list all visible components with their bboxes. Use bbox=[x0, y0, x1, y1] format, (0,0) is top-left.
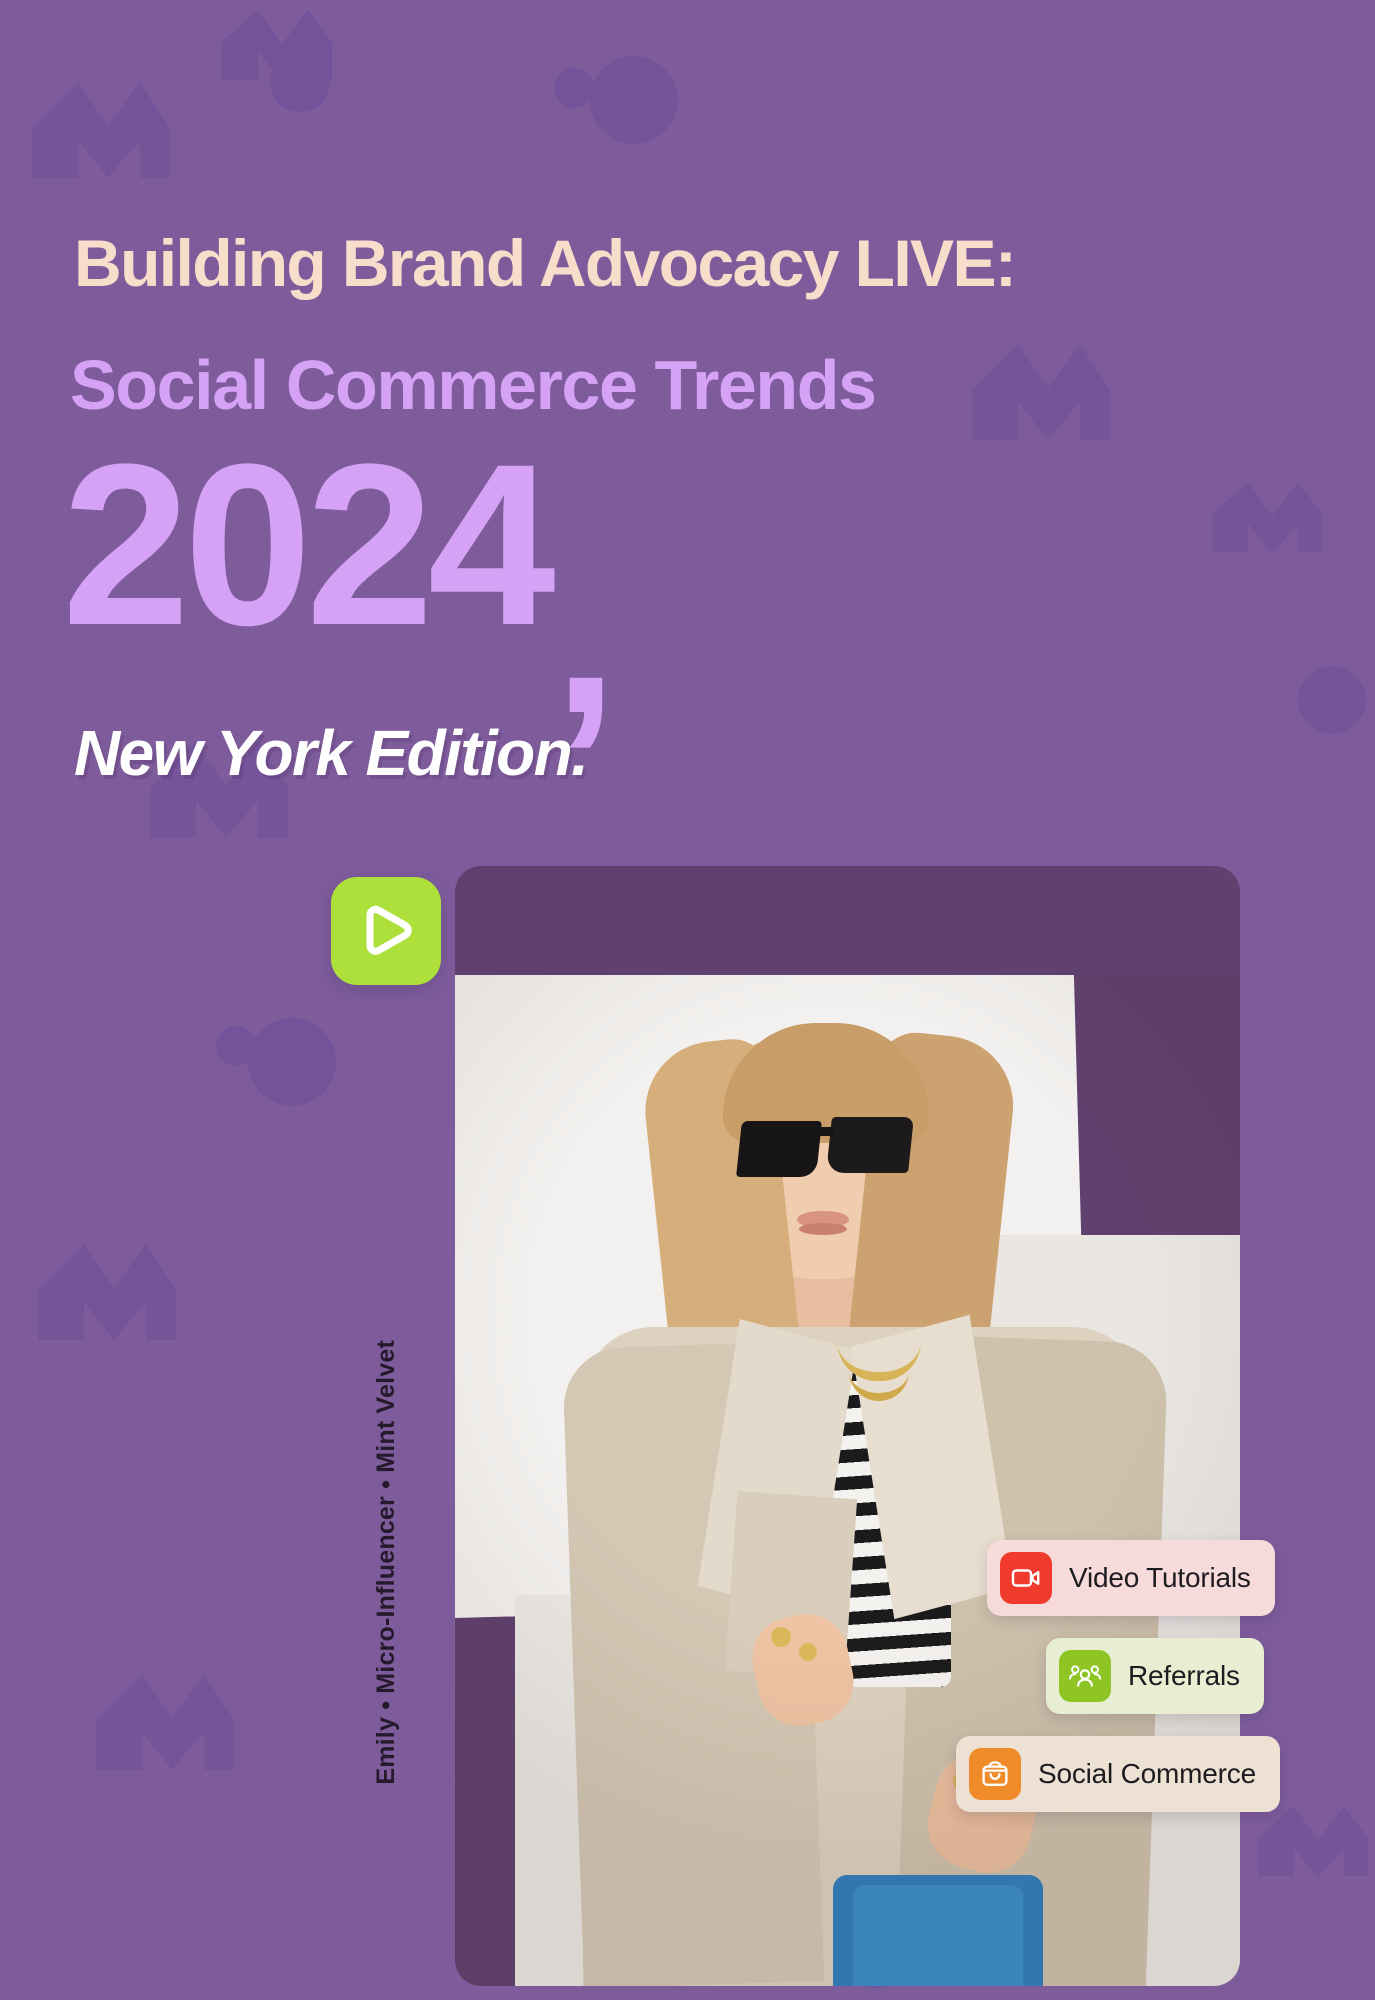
influencer-caption: Emily • Micro-Influencer • Mint Velvet bbox=[372, 1340, 401, 1785]
play-button[interactable] bbox=[331, 877, 441, 985]
video-camera-icon bbox=[1000, 1552, 1052, 1604]
pill-social-commerce[interactable]: Social Commerce bbox=[956, 1736, 1280, 1812]
media-stage: Emily • Micro-Influencer • Mint Velvet V… bbox=[0, 0, 1375, 2000]
pill-label: Social Commerce bbox=[1038, 1758, 1256, 1790]
pill-referrals[interactable]: Referrals bbox=[1046, 1638, 1264, 1714]
influencer-photo bbox=[455, 975, 1240, 1986]
pill-label: Video Tutorials bbox=[1069, 1562, 1251, 1594]
people-group-icon bbox=[1059, 1650, 1111, 1702]
influencer-illustration bbox=[455, 975, 1240, 1986]
shopping-bag-icon bbox=[969, 1748, 1021, 1800]
play-icon bbox=[355, 902, 417, 960]
pill-label: Referrals bbox=[1128, 1660, 1240, 1692]
poster-canvas: Building Brand Advocacy LIVE: Social Com… bbox=[0, 0, 1375, 2000]
pill-video-tutorials[interactable]: Video Tutorials bbox=[987, 1540, 1275, 1616]
